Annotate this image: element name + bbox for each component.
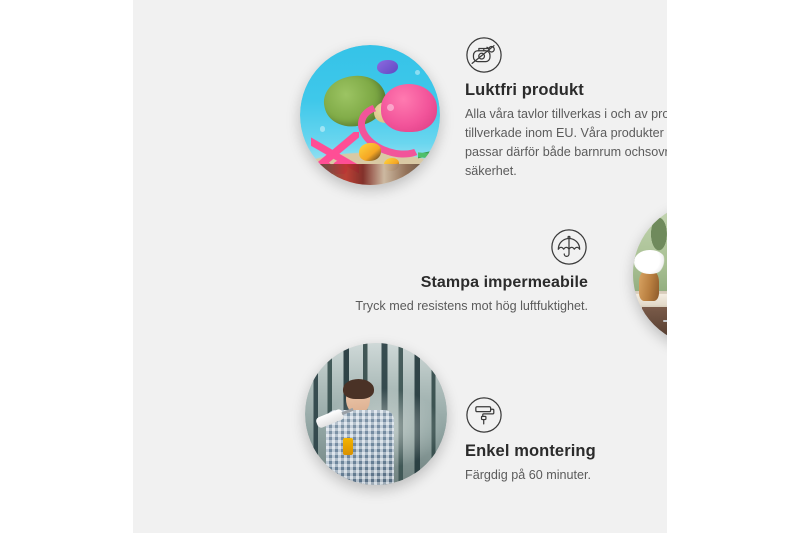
feature-title: Luktfri produkt	[465, 80, 667, 101]
person-figure	[325, 383, 396, 485]
product-image-underwater[interactable]	[300, 45, 440, 185]
no-fragrance-bottle-icon	[465, 36, 503, 74]
feature-odourless: Luktfri produkt Alla våra tavlor tillver…	[465, 36, 667, 181]
flowers-shape	[634, 250, 666, 274]
product-image-bathroom[interactable]	[633, 202, 667, 346]
content-panel: Luktfri produkt Alla våra tavlor tillver…	[133, 0, 667, 533]
purple-fish-shape	[377, 60, 398, 74]
yellow-fish-shape	[359, 143, 381, 161]
feature-description: Tryck med resistens mot hög luftfuktighe…	[348, 297, 588, 316]
feature-waterproof: Stampa impermeabile Tryck med resistens …	[348, 228, 588, 316]
feature-title: Enkel montering	[465, 441, 667, 462]
feature-description: Alla våra tavlor tillverkas i och av pro…	[465, 105, 667, 182]
paint-roller-icon	[465, 396, 503, 434]
bubble-shape	[415, 70, 420, 75]
underwater-artwork	[300, 45, 440, 185]
drawer-handle	[663, 320, 667, 322]
bathroom-artwork	[633, 202, 667, 346]
feature-easy-assembly: Enkel montering Färgdig på 60 minuter.	[465, 396, 667, 485]
bubble-shape	[387, 104, 394, 111]
feature-title: Stampa impermeabile	[348, 273, 588, 293]
image-bottom-strip	[300, 164, 440, 185]
feature-description: Färgdig på 60 minuter.	[465, 466, 667, 485]
hair-shape	[343, 379, 374, 399]
paint-can-shape	[343, 438, 352, 455]
product-image-forest[interactable]	[305, 343, 447, 485]
vase-shape	[639, 270, 659, 302]
promo-page: Luktfri produkt Alla våra tavlor tillver…	[0, 0, 800, 533]
cabinet-shape	[642, 307, 667, 346]
forest-artwork	[305, 343, 447, 485]
bubble-shape	[320, 126, 326, 132]
umbrella-icon	[550, 228, 588, 266]
